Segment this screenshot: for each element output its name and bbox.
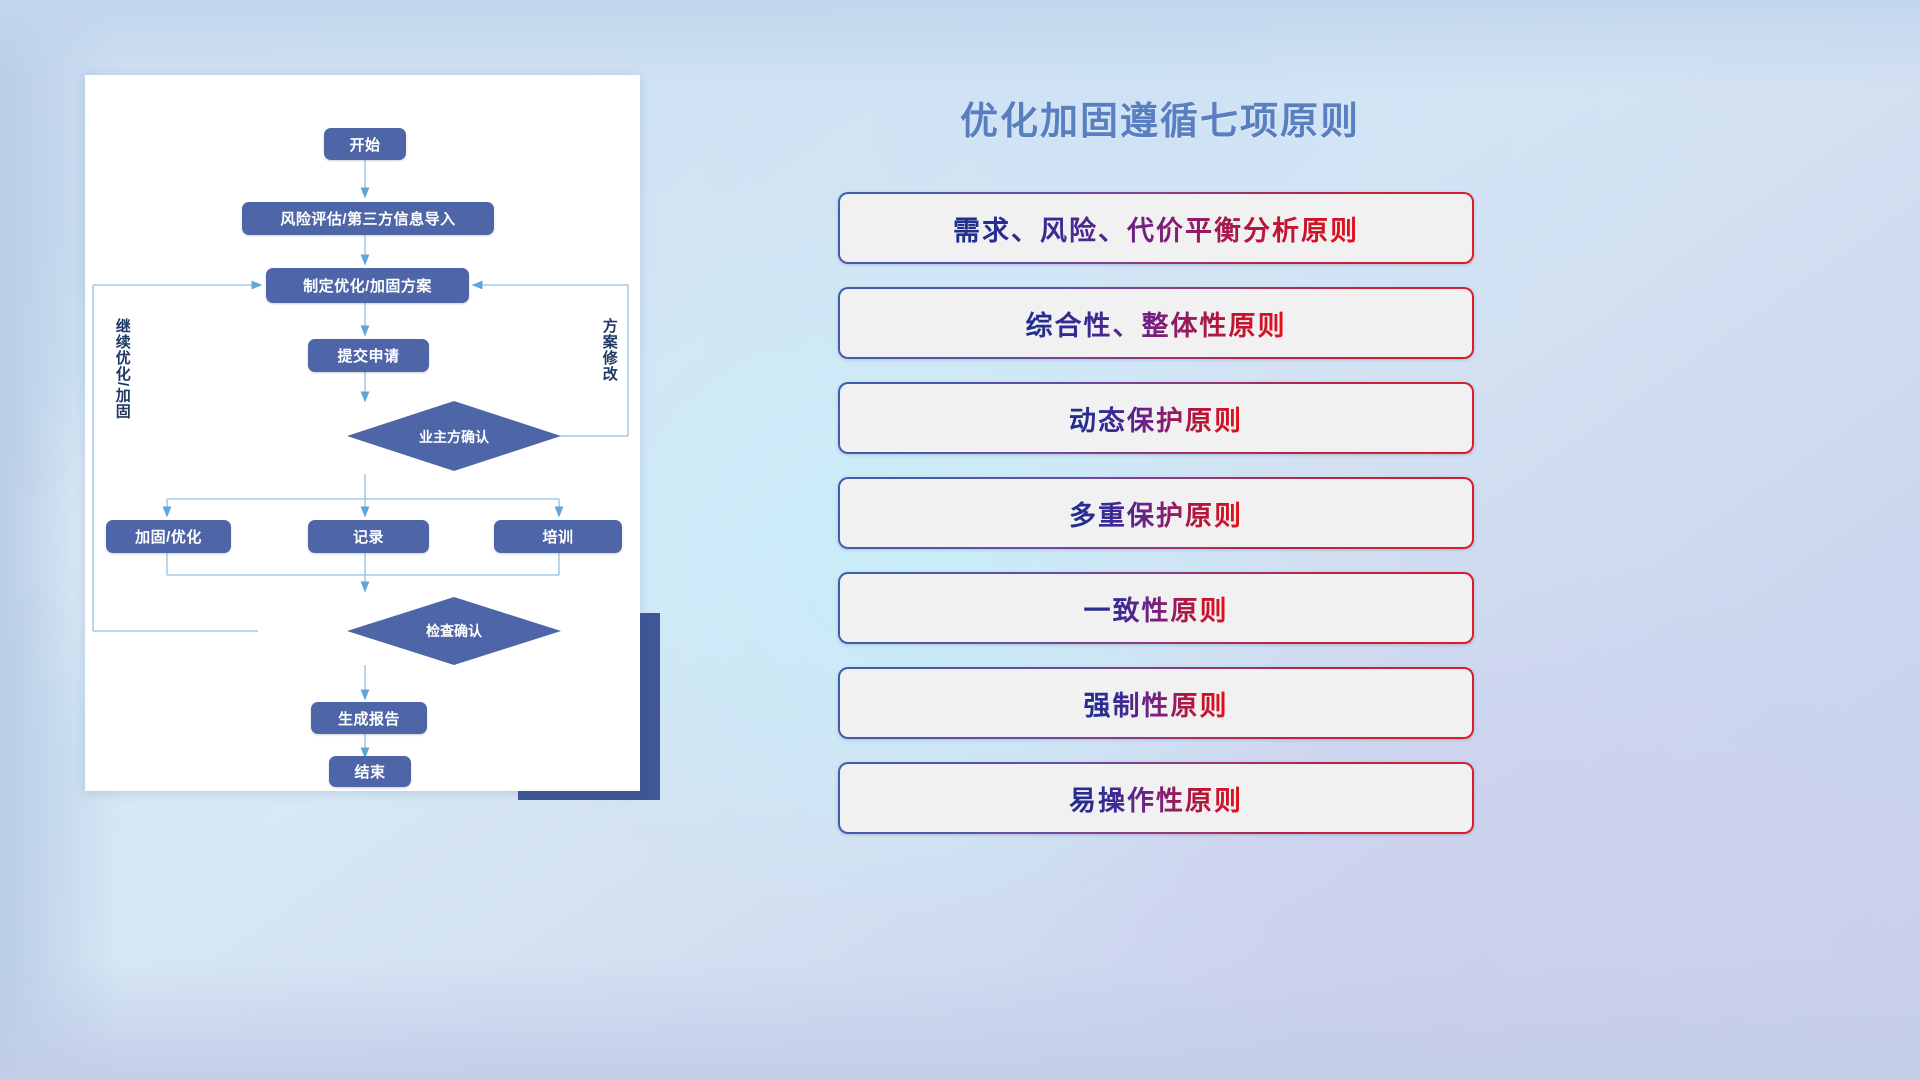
principle-item-4[interactable]: 多重保护原则 (838, 477, 1474, 549)
principle-item-3[interactable]: 动态保护原则 (838, 382, 1474, 454)
principle-item-2[interactable]: 综合性、整体性原则 (838, 287, 1474, 359)
flowchart-card: 开始 风险评估/第三方信息导入 制定优化/加固方案 提交申请 加固/优化 记录 … (85, 75, 640, 791)
principle-label: 多重保护原则 (1069, 494, 1243, 533)
flow-node-label: 加固/优化 (135, 526, 202, 547)
flow-node-label: 制定优化/加固方案 (303, 275, 432, 296)
flow-node-label: 提交申请 (337, 345, 399, 366)
principle-item-inner: 动态保护原则 (840, 384, 1472, 452)
flow-node-training[interactable]: 培训 (494, 520, 622, 553)
flow-node-label: 结束 (354, 761, 385, 782)
principle-label: 强制性原则 (1084, 684, 1229, 723)
principle-item-5[interactable]: 一致性原则 (838, 572, 1474, 644)
principle-label: 综合性、整体性原则 (1026, 304, 1287, 343)
flow-node-reinforce-optimize[interactable]: 加固/优化 (106, 520, 231, 553)
flow-node-label: 记录 (353, 526, 384, 547)
principle-label: 一致性原则 (1084, 589, 1229, 628)
flowchart-connectors (85, 75, 640, 791)
flow-node-label: 培训 (542, 526, 573, 547)
principle-item-inner: 需求、风险、代价平衡分析原则 (840, 194, 1472, 262)
principle-item-inner: 一致性原则 (840, 574, 1472, 642)
principle-item-1[interactable]: 需求、风险、代价平衡分析原则 (838, 192, 1474, 264)
flow-node-end[interactable]: 结束 (329, 756, 411, 787)
flow-label-plan-revision: 方案修改 (601, 318, 617, 382)
flow-label-continue-optimize: 继续优化/加固 (114, 318, 130, 419)
principle-label: 需求、风险、代价平衡分析原则 (953, 209, 1359, 248)
flow-node-label: 开始 (349, 134, 380, 155)
flow-node-start[interactable]: 开始 (324, 128, 406, 160)
flow-node-label: 检查确认 (426, 621, 482, 641)
principle-item-inner: 易操作性原则 (840, 764, 1472, 832)
flow-node-make-plan[interactable]: 制定优化/加固方案 (266, 268, 469, 303)
principle-item-7[interactable]: 易操作性原则 (838, 762, 1474, 834)
flow-node-risk-assessment[interactable]: 风险评估/第三方信息导入 (242, 202, 494, 235)
flow-node-label: 风险评估/第三方信息导入 (280, 208, 455, 229)
background-bottom-edge-gradient (0, 960, 1920, 1080)
principle-item-inner: 多重保护原则 (840, 479, 1472, 547)
flow-node-check-confirm-label[interactable]: 检查确认 (382, 621, 526, 641)
flow-node-label: 生成报告 (338, 708, 400, 729)
flow-node-submit-application[interactable]: 提交申请 (308, 339, 429, 372)
principle-item-inner: 综合性、整体性原则 (840, 289, 1472, 357)
principle-label: 易操作性原则 (1069, 779, 1243, 818)
principles-list: 需求、风险、代价平衡分析原则 综合性、整体性原则 动态保护原则 多重保护原则 一… (838, 192, 1474, 857)
flow-node-owner-confirm-label[interactable]: 业主方确认 (382, 427, 526, 447)
flow-node-label: 业主方确认 (419, 427, 489, 447)
flow-node-record[interactable]: 记录 (308, 520, 429, 553)
principle-item-6[interactable]: 强制性原则 (838, 667, 1474, 739)
principle-label: 动态保护原则 (1069, 399, 1243, 438)
principle-item-inner: 强制性原则 (840, 669, 1472, 737)
flow-node-generate-report[interactable]: 生成报告 (311, 702, 427, 734)
page-title: 优化加固遵循七项原则 (840, 96, 1480, 148)
